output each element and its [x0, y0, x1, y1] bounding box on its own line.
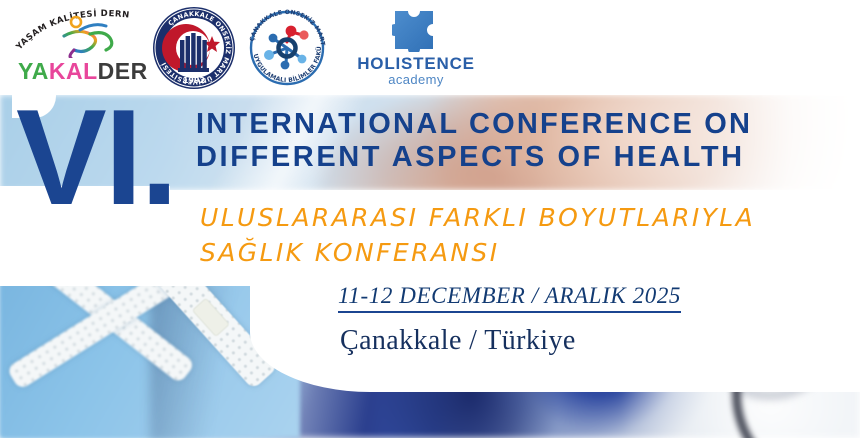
title-tr-line-2: SAĞLIK KONFERANSI [200, 235, 755, 270]
title-en-line-2: DIFFERENT ASPECTS OF HEALTH [196, 141, 752, 174]
yakalder-mark: YAŞAM KALİTESİ DERNEĞİ [14, 6, 140, 58]
title-en-line-1: INTERNATIONAL CONFERENCE ON [196, 108, 752, 141]
logo-uygulamali-bilimler-fakultesi: ÇANAKKALE ONSEKİZ MART ÜNİVERSİTESİ UYGU… [244, 6, 330, 90]
edition-text: VI. [16, 81, 176, 233]
holistence-wordmark: HOLISTENCE [352, 54, 480, 74]
title-tr-line-1: ULUSLARARASI FARKLI BOYUTLARIYLA [200, 200, 755, 235]
holistence-subtitle: academy [352, 72, 480, 87]
logo-yakalder: YAŞAM KALİTESİ DERNEĞİ YAKALDER [14, 6, 140, 90]
conference-location: Çanakkale / Türkiye [340, 325, 576, 357]
conference-title-turkish: ULUSLARARASI FARKLI BOYUTLARIYLA SAĞLIK … [200, 200, 755, 270]
holistence-puzzle-icon [392, 8, 440, 52]
logo-comu: ÇANAKKALE ONSEKİZ MART ÜNİVERSİTESİ 1992 [152, 6, 236, 90]
faculty-seal: ÇANAKKALE ONSEKİZ MART ÜNİVERSİTESİ UYGU… [244, 6, 330, 90]
comu-year: 1992 [183, 76, 205, 85]
edition-number: VI. [16, 93, 176, 221]
conference-date: 11-12 DECEMBER / ARALIK 2025 [338, 283, 681, 313]
conference-title-english: INTERNATIONAL CONFERENCE ON DIFFERENT AS… [196, 108, 752, 174]
logo-holistence-academy: HOLISTENCE academy [352, 8, 480, 88]
conference-banner: YAŞAM KALİTESİ DERNEĞİ YAKALDER [0, 0, 860, 438]
comu-seal: ÇANAKKALE ONSEKİZ MART ÜNİVERSİTESİ 1992 [152, 6, 236, 90]
